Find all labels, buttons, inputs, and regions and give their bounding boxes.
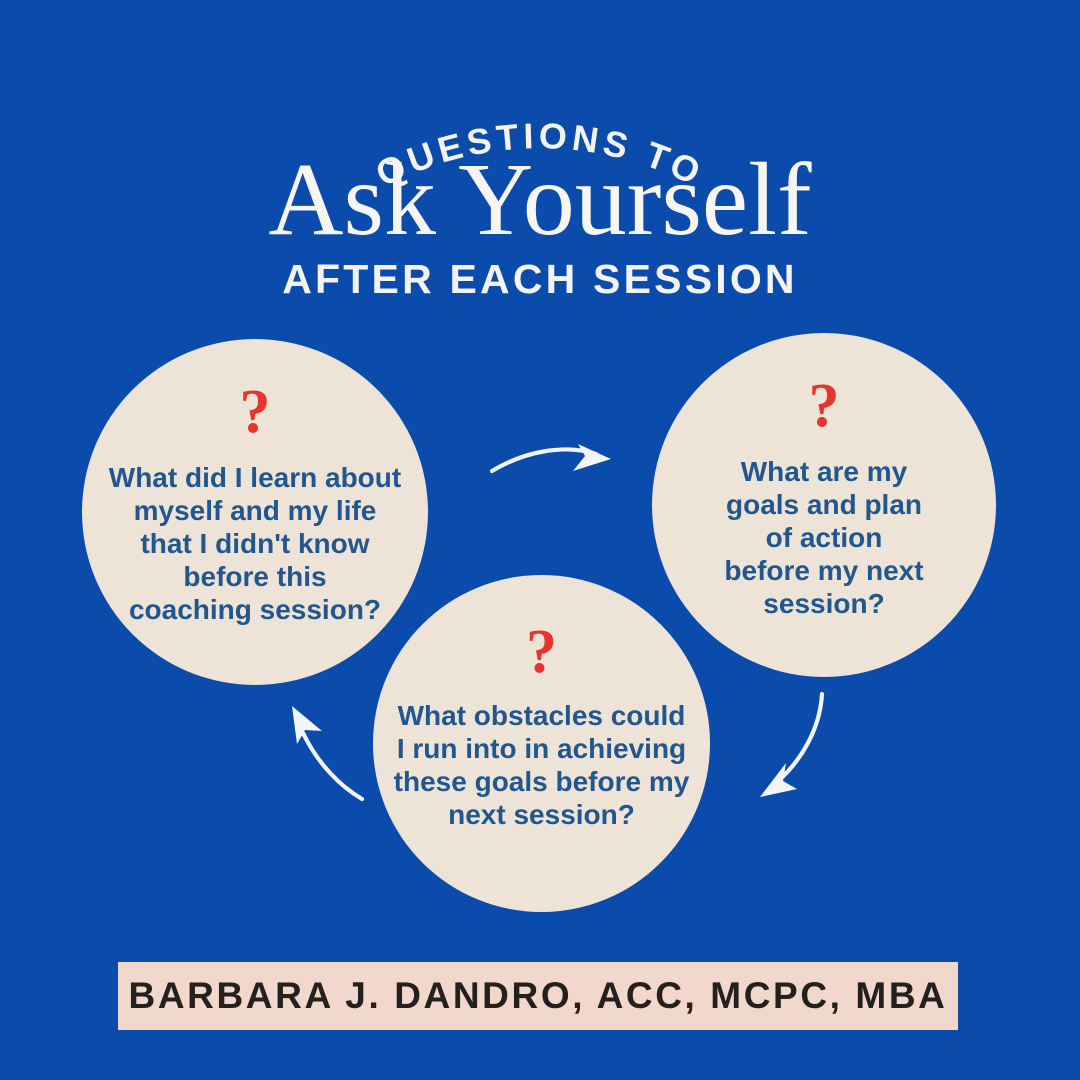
footer-name-banner: BARBARA J. DANDRO, ACC, MCPC, MBA — [118, 962, 958, 1030]
header-block: QUESTIONS TO Ask Yourself AFTER EACH SES… — [0, 0, 1080, 320]
question-circle-3-text: What obstacles could I run into in achie… — [387, 699, 697, 831]
question-circle-1-text: What did I learn about myself and my lif… — [99, 461, 411, 626]
question-circle-2: ? What are my goals and plan of action b… — [652, 333, 996, 677]
footer-name-text: BARBARA J. DANDRO, ACC, MCPC, MBA — [129, 975, 948, 1017]
poster-canvas: QUESTIONS TO Ask Yourself AFTER EACH SES… — [0, 0, 1080, 1080]
question-circle-1: ? What did I learn about myself and my l… — [82, 339, 428, 685]
page-title: Ask Yourself — [0, 148, 1080, 252]
question-circle-3: ? What obstacles could I run into in ach… — [373, 575, 710, 912]
page-subtitle: AFTER EACH SESSION — [0, 256, 1080, 303]
arrow-top-right-icon — [492, 444, 611, 471]
question-mark-icon: ? — [526, 621, 557, 683]
arrow-right-down-icon — [760, 694, 822, 797]
arrow-left-up-icon — [292, 706, 362, 799]
question-circle-2-text: What are my goals and plan of action bef… — [704, 455, 944, 620]
question-mark-icon: ? — [809, 375, 840, 437]
question-mark-icon: ? — [240, 381, 271, 443]
